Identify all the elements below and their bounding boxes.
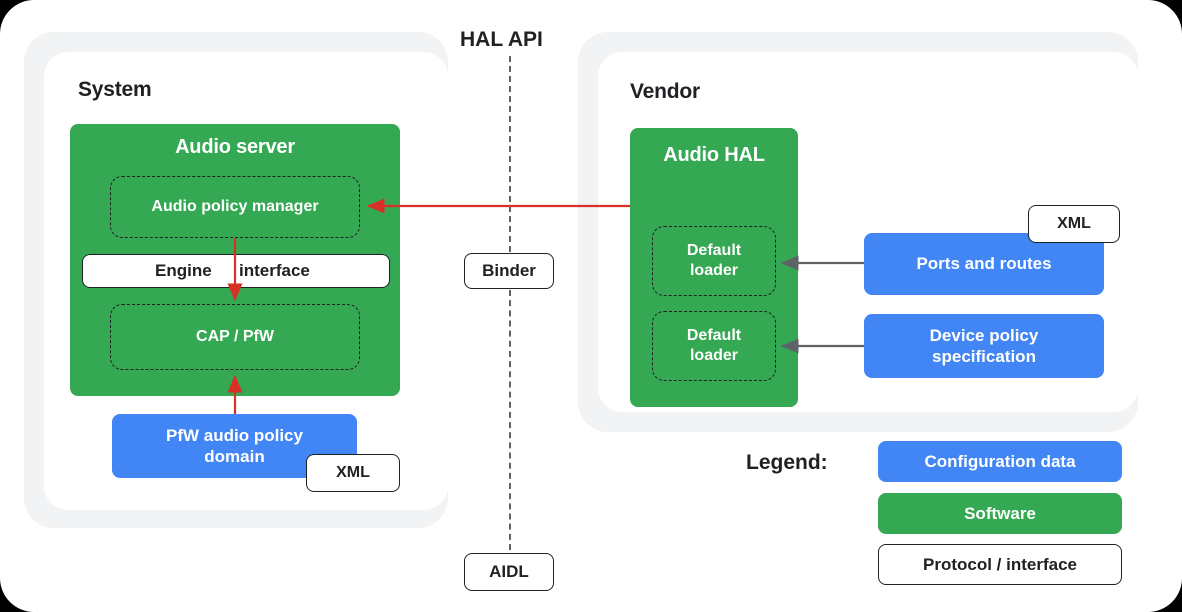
aidl-label: AIDL: [489, 562, 529, 582]
diagram-canvas: System Audio server Audio policy manager…: [0, 0, 1182, 612]
default-loader-2-line1: Default: [687, 326, 741, 346]
engine-interface-pill: Engine interface: [82, 254, 390, 288]
engine-interface-word-right: interface: [239, 255, 310, 287]
xml-badge-vendor: XML: [1028, 205, 1120, 243]
xml-badge-vendor-label: XML: [1057, 215, 1091, 233]
engine-interface-word-left: Engine: [155, 255, 212, 287]
hal-api-divider-upper: [509, 56, 511, 252]
default-loader-1-line1: Default: [687, 241, 741, 261]
binder-pill: Binder: [464, 253, 554, 289]
legend-item-configuration-data-label: Configuration data: [924, 451, 1075, 472]
vendor-group-title: Vendor: [630, 80, 700, 104]
pfw-audio-policy-domain-line1: PfW audio policy: [166, 425, 303, 446]
xml-badge-system-label: XML: [336, 464, 370, 482]
device-policy-specification-box: Device policy specification: [864, 314, 1104, 378]
pfw-audio-policy-domain-line2: domain: [204, 446, 264, 467]
aidl-pill: AIDL: [464, 553, 554, 591]
default-loader-2-line2: loader: [690, 346, 738, 366]
default-loader-1-line2: loader: [690, 261, 738, 281]
legend-item-software-label: Software: [964, 504, 1036, 524]
audio-policy-manager-label: Audio policy manager: [151, 197, 318, 217]
device-policy-line2: specification: [932, 346, 1036, 367]
legend-item-protocol-interface-label: Protocol / interface: [923, 555, 1077, 575]
legend-title: Legend:: [746, 451, 828, 475]
legend-item-protocol-interface: Protocol / interface: [878, 544, 1122, 585]
audio-hal-title: Audio HAL: [630, 144, 798, 167]
cap-pfw-block: CAP / PfW: [110, 304, 360, 370]
xml-badge-system: XML: [306, 454, 400, 492]
system-group-title: System: [78, 78, 152, 102]
audio-policy-manager-block: Audio policy manager: [110, 176, 360, 238]
default-loader-block-1: Default loader: [652, 226, 776, 296]
hal-api-title: HAL API: [460, 28, 543, 52]
device-policy-line1: Device policy: [930, 325, 1039, 346]
hal-api-divider-lower: [509, 290, 511, 550]
binder-label: Binder: [482, 261, 536, 281]
cap-pfw-label: CAP / PfW: [196, 327, 274, 347]
default-loader-block-2: Default loader: [652, 311, 776, 381]
legend-item-configuration-data: Configuration data: [878, 441, 1122, 482]
legend-item-software: Software: [878, 493, 1122, 534]
ports-and-routes-label: Ports and routes: [916, 253, 1051, 274]
audio-server-title: Audio server: [70, 136, 400, 159]
